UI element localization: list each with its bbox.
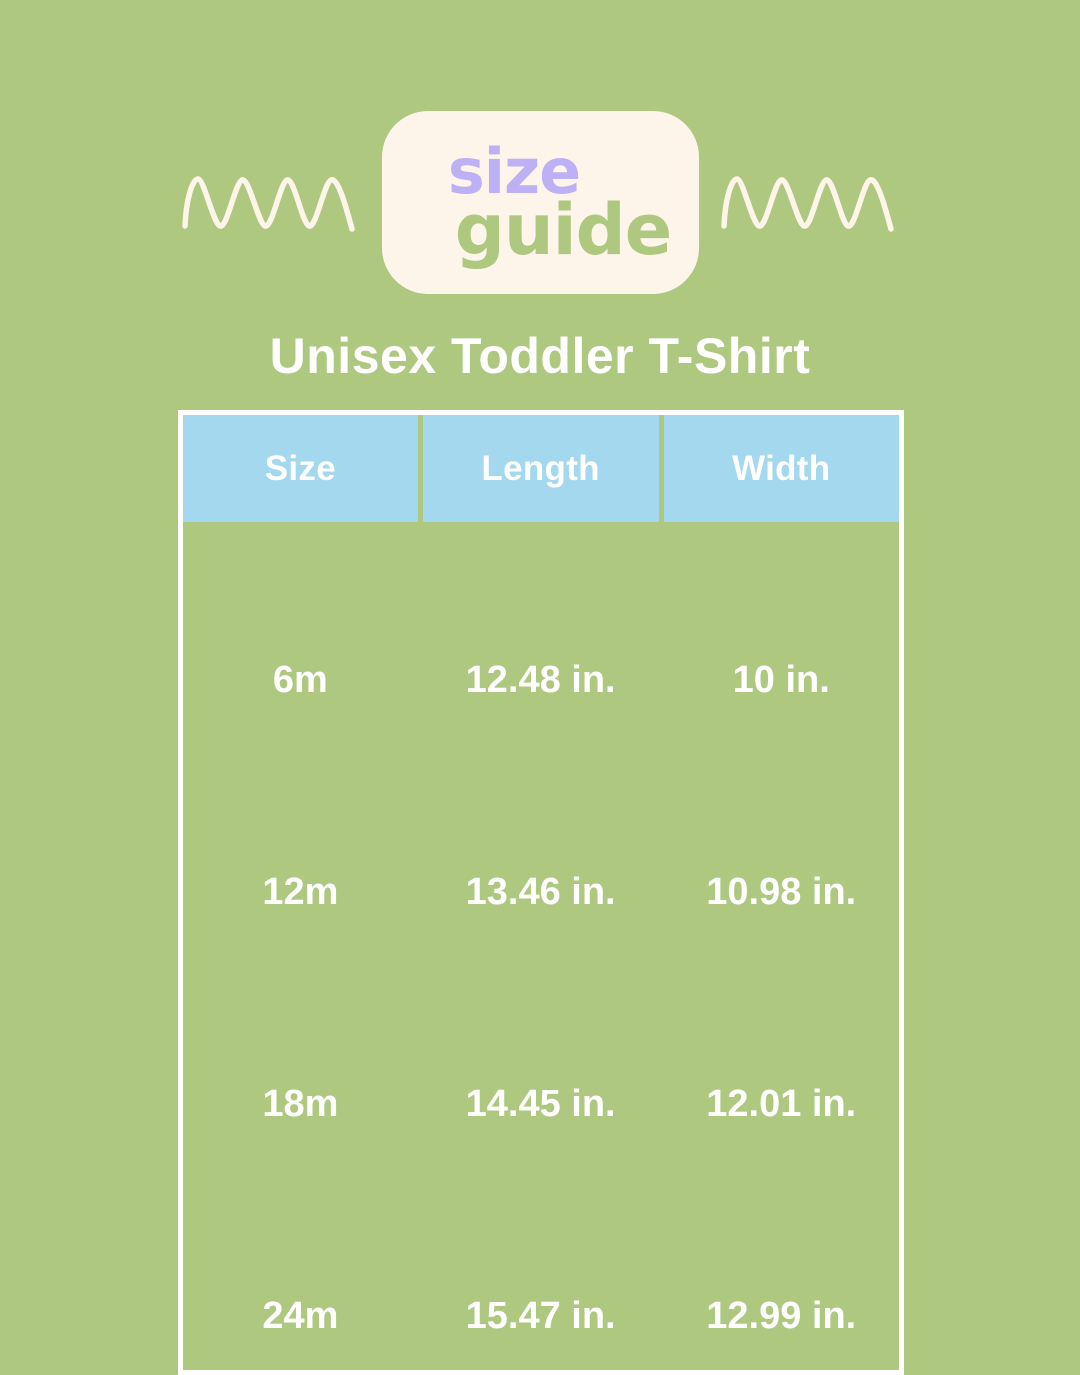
table-row: 6m 12.48 in. 10 in. — [183, 627, 899, 734]
zigzag-squiggle-right-icon — [721, 171, 899, 235]
column-header-length: Length — [423, 415, 659, 522]
table-divider — [183, 734, 899, 839]
logo-text-guide: guide — [455, 198, 672, 262]
zigzag-squiggle-left-icon — [182, 171, 360, 235]
cell-length: 12.48 in. — [423, 627, 659, 734]
size-chart-table: Size Length Width 6m 12.48 in. 10 in. 12… — [178, 410, 904, 1375]
cell-size: 6m — [183, 627, 418, 734]
cell-width: 10 in. — [664, 627, 900, 734]
table-divider — [183, 946, 899, 1051]
table-row: 18m 14.45 in. 12.01 in. — [183, 1051, 899, 1158]
cell-size: 12m — [183, 839, 418, 946]
cell-length: 14.45 in. — [423, 1051, 659, 1158]
cell-length: 15.47 in. — [423, 1263, 659, 1370]
size-guide-logo-badge: size guide — [382, 111, 699, 294]
column-header-size: Size — [183, 415, 418, 522]
table-divider-row — [183, 1158, 899, 1263]
cell-width: 12.99 in. — [664, 1263, 900, 1370]
cell-size: 18m — [183, 1051, 418, 1158]
table-row: 12m 13.46 in. 10.98 in. — [183, 839, 899, 946]
table-divider-row — [183, 946, 899, 1051]
table-header-row: Size Length Width — [183, 415, 899, 522]
cell-width: 10.98 in. — [664, 839, 900, 946]
table-row: 24m 15.47 in. 12.99 in. — [183, 1263, 899, 1370]
cell-size: 24m — [183, 1263, 418, 1370]
cell-width: 12.01 in. — [664, 1051, 900, 1158]
column-header-width: Width — [664, 415, 900, 522]
table-divider-row — [183, 522, 899, 627]
table-divider — [183, 522, 899, 627]
cell-length: 13.46 in. — [423, 839, 659, 946]
header-decoration-band: size guide — [0, 110, 1080, 295]
page-title: Unisex Toddler T-Shirt — [0, 327, 1080, 385]
table-divider — [183, 1158, 899, 1263]
table-divider-row — [183, 734, 899, 839]
